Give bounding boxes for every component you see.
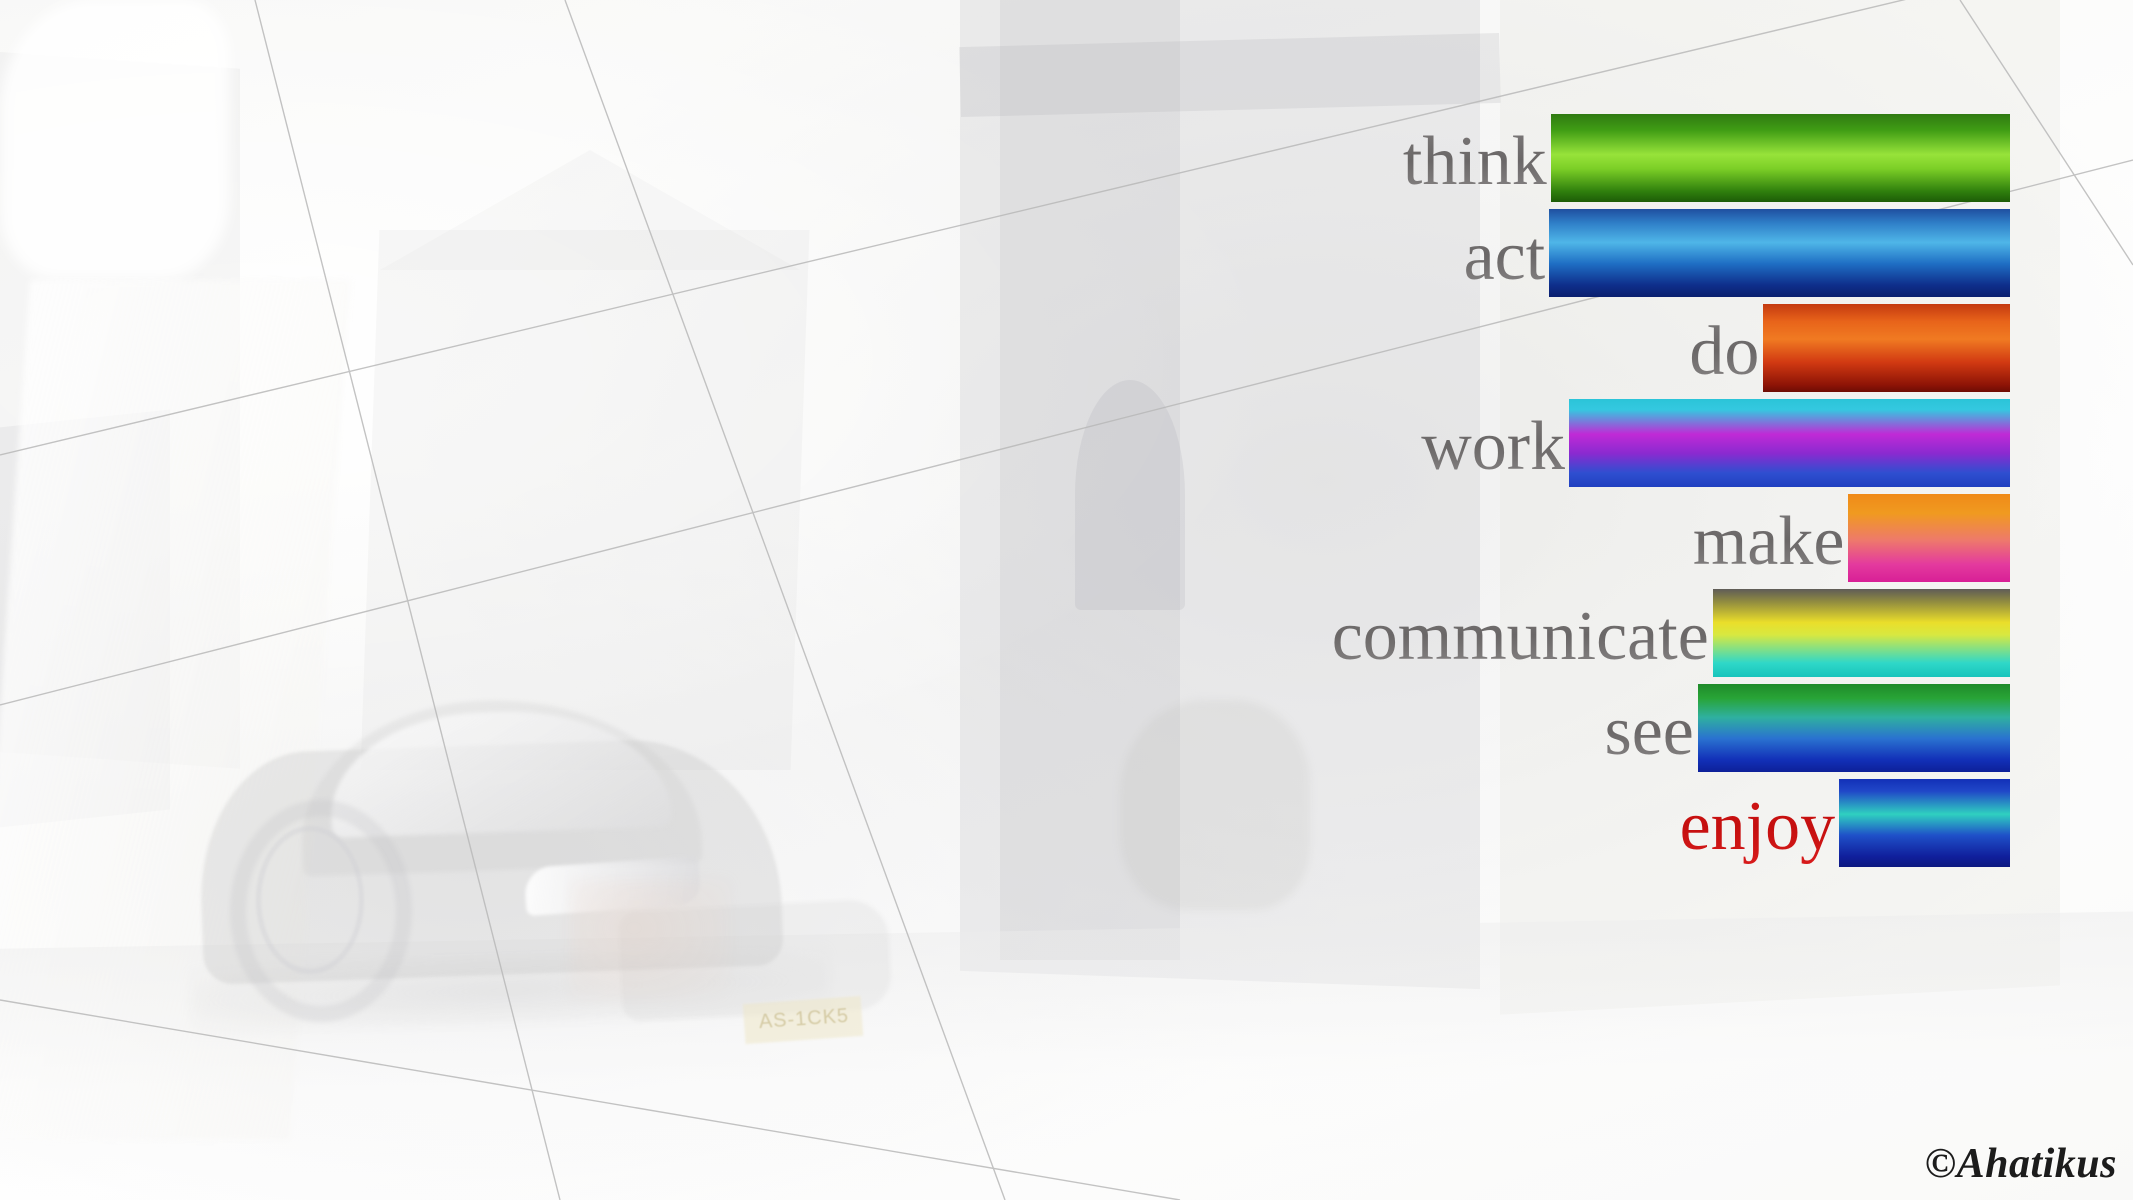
quote-lead-6: communicate xyxy=(1332,598,1709,675)
quote-lead-2: act xyxy=(1464,218,1546,295)
car-wheel xyxy=(230,800,412,1022)
quote-line-1: think POSITIVELY xyxy=(900,118,2010,213)
car-wheel-rim xyxy=(256,826,364,974)
quote-lead-3: do xyxy=(1689,313,1759,390)
building-left-tower xyxy=(0,51,240,768)
quote-line-4: work CREATIVLY xyxy=(900,403,2010,498)
car-license-plate-text: AS-1CK5 xyxy=(751,1004,856,1034)
quote-line-8: enjoy LIFE xyxy=(900,783,2010,878)
quote-keyword-freely: FREELY xyxy=(1713,589,2010,677)
background-ground xyxy=(0,910,2133,1200)
car-body xyxy=(196,735,784,985)
car-front-bumper xyxy=(617,898,892,1022)
car-shadow xyxy=(189,944,831,1036)
quote-line-2: act MOTIVATED xyxy=(900,213,2010,308)
building-far-right-highlight xyxy=(0,280,350,1140)
building-left-highlight xyxy=(0,0,230,280)
quote-line-6: communicate FREELY xyxy=(900,593,2010,688)
car-license-plate xyxy=(743,996,864,1044)
quote-lead-5: make xyxy=(1693,503,1845,580)
quote-line-3: do SPORT xyxy=(900,308,2010,403)
car-roof xyxy=(297,693,703,877)
quote-keyword-motivated: MOTIVATED xyxy=(1549,209,2010,297)
quote-keyword-target: TARGET xyxy=(1698,684,2010,772)
quote-keyword-life: LIFE xyxy=(1839,779,2010,867)
quote-lead-4: work xyxy=(1421,408,1565,485)
quote-keyword-creativly: CREATIVLY xyxy=(1569,399,2010,487)
quote-block: think POSITIVELY act MOTIVATED do SPORT … xyxy=(900,118,2010,878)
car-headlight xyxy=(524,856,702,916)
quote-line-5: make FUN xyxy=(900,498,2010,593)
quote-keyword-sport: SPORT xyxy=(1763,304,2010,392)
quote-keyword-positively: POSITIVELY xyxy=(1551,114,2010,202)
building-right-cornice xyxy=(959,33,1501,117)
crease-line-5 xyxy=(0,1000,1180,1200)
quote-line-7: see TARGET xyxy=(900,688,2010,783)
copyright-signature: ©Ahatikus xyxy=(1925,1140,2117,1188)
quote-lead-7: see xyxy=(1605,693,1694,770)
crease-line-1 xyxy=(255,0,560,1200)
poster-canvas: AS-1CK5 think POSITIVELY act MOTIVATED d… xyxy=(0,0,2133,1200)
building-mid-house xyxy=(361,230,810,770)
quote-lead-1: think xyxy=(1403,123,1547,200)
car-windshield xyxy=(328,706,672,838)
building-left-lower xyxy=(0,409,170,830)
quote-keyword-fun: FUN xyxy=(1848,494,2010,582)
car-reflection xyxy=(570,880,730,1000)
quote-lead-8: enjoy xyxy=(1680,788,1836,865)
building-mid-roof xyxy=(380,150,800,270)
